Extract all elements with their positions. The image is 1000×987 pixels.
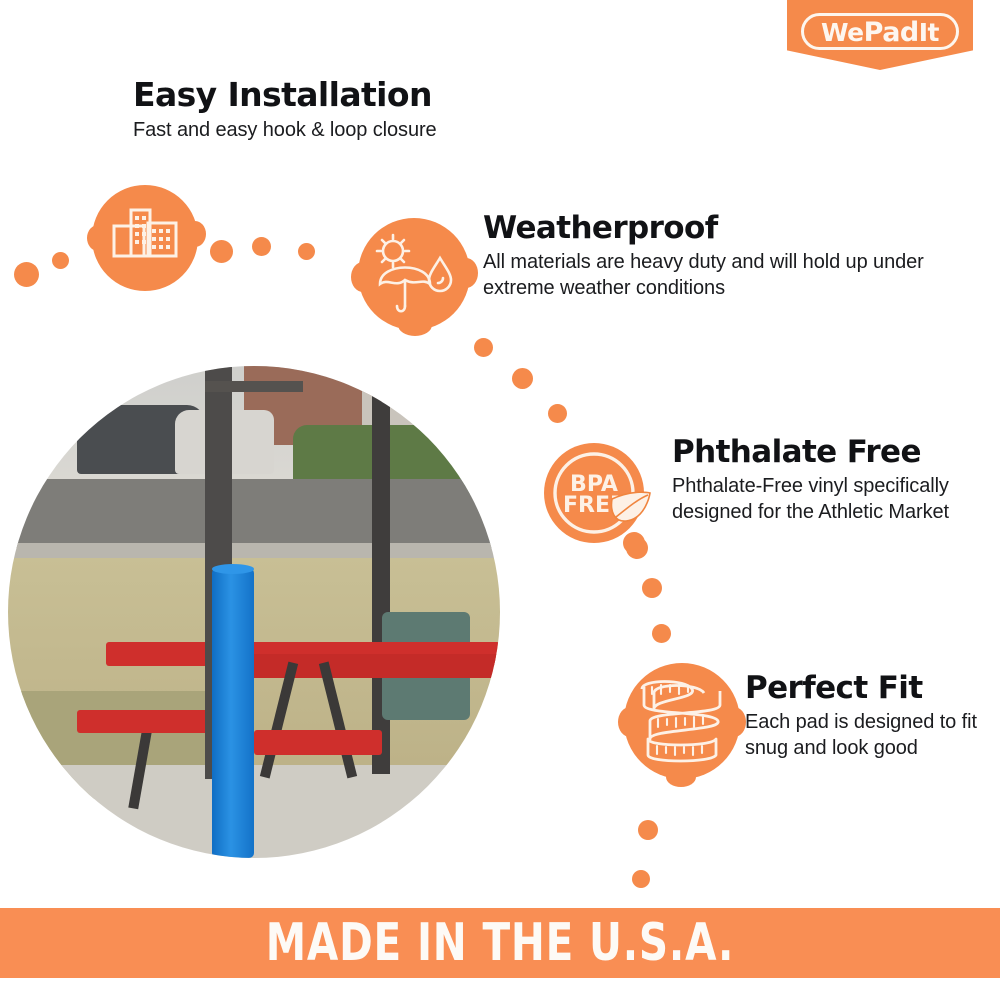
photo-bench-right — [254, 730, 382, 755]
feature-weatherproof: Weatherproof All materials are heavy dut… — [483, 212, 1000, 301]
infographic-page: WePadIt Easy Installation Fast and easy … — [0, 0, 1000, 987]
sun-umbrella-rain-glyph — [358, 218, 470, 330]
feature-description-weatherproof: All materials are heavy duty and will ho… — [483, 249, 1000, 302]
logo-text-we: We — [821, 18, 864, 47]
feature-title-perfect-fit: Perfect Fit — [745, 672, 1000, 705]
feature-description-perfect-fit: Each pad is designed to fit snug and loo… — [745, 709, 1000, 762]
trail-dot — [638, 820, 658, 840]
bpa-free-leaf-icon: BPA FREE — [538, 437, 650, 549]
trail-dot — [512, 368, 533, 389]
feature-title-easy-installation: Easy Installation — [133, 78, 437, 113]
trail-dot — [548, 404, 567, 423]
feature-description-phthalate-free: Phthalate-Free vinyl specifically design… — [672, 473, 1000, 526]
trail-dot — [14, 262, 39, 287]
building-icon-glyph — [92, 185, 198, 291]
measuring-tape-icon — [624, 663, 740, 779]
feature-easy-installation: Easy Installation Fast and easy hook & l… — [133, 78, 437, 143]
trail-dot — [632, 870, 650, 888]
feature-title-phthalate-free: Phthalate Free — [672, 436, 1000, 469]
logo-text: WePadIt — [787, 17, 973, 48]
photo-sidewalk — [8, 765, 500, 858]
logo-text-it: It — [919, 18, 939, 47]
trail-dot — [474, 338, 493, 357]
measuring-tape-glyph — [624, 663, 740, 779]
photo-cross-bar — [205, 381, 303, 392]
feature-phthalate-free: Phthalate Free Phthalate-Free vinyl spec… — [672, 436, 1000, 525]
product-photo — [8, 366, 500, 858]
building-icon — [92, 185, 198, 291]
trail-dot — [642, 578, 662, 598]
sun-umbrella-rain-icon — [358, 218, 470, 330]
photo-pole-pad-top — [212, 564, 254, 574]
trail-dot — [652, 624, 671, 643]
feature-perfect-fit: Perfect Fit Each pad is designed to fit … — [745, 672, 1000, 761]
trail-dot — [626, 537, 648, 559]
made-in-usa-banner: MADE IN THE U.S.A. — [0, 908, 1000, 978]
feature-description-easy-installation: Fast and easy hook & loop closure — [133, 117, 437, 143]
trail-dot — [252, 237, 271, 256]
photo-curb — [8, 543, 500, 558]
trail-dot — [298, 243, 315, 260]
photo-bench-left — [77, 710, 225, 732]
photo-road — [8, 479, 500, 548]
photo-picnic-table-edge — [224, 654, 500, 679]
feature-title-weatherproof: Weatherproof — [483, 212, 1000, 245]
photo-blue-pole-pad — [212, 568, 254, 858]
trail-dot — [52, 252, 69, 269]
made-in-usa-text: MADE IN THE U.S.A. — [110, 913, 890, 973]
brand-logo: WePadIt — [787, 0, 973, 70]
logo-text-pad: Pad — [864, 17, 919, 48]
trail-dot — [210, 240, 233, 263]
